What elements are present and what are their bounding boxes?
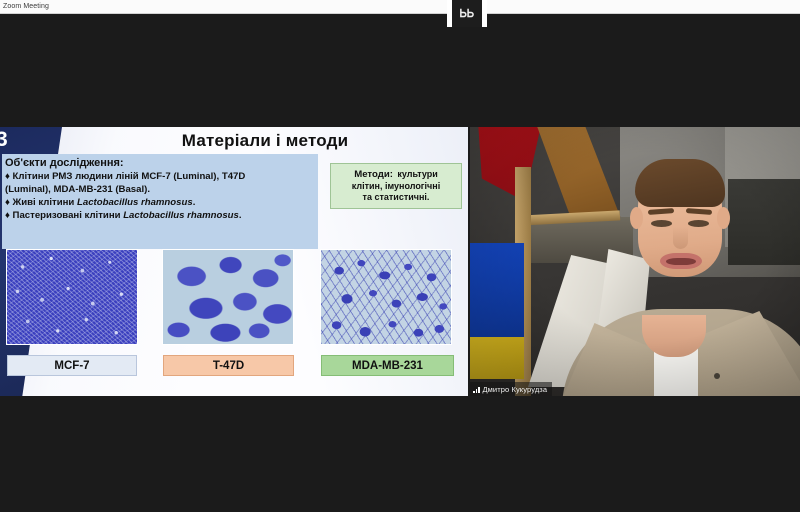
window-titlebar: Zoom Meeting [0, 0, 800, 14]
micrograph-mdamb231-image [321, 250, 451, 344]
micrograph-mcf7-image [7, 250, 137, 344]
micrograph-t47d [162, 249, 294, 345]
cell-line-label-mcf7: MCF-7 [7, 355, 137, 376]
shared-screen-slide[interactable]: 3 Матеріали і методи Об'єкти дослідження… [0, 127, 468, 396]
objects-heading: Об'єкти дослідження: [5, 156, 315, 170]
signal-strength-icon [473, 386, 480, 393]
methods-panel: Методи: культури клітин, імунологічні та… [330, 163, 462, 209]
cell-line-label-t47d: T-47D [163, 355, 294, 376]
meeting-stage: 3 Матеріали і методи Об'єкти дослідження… [0, 127, 800, 396]
window-title: Zoom Meeting [0, 3, 49, 10]
participant-video-tile[interactable]: Дмитро Кукурудза [470, 127, 800, 396]
participant-name-tag: Дмитро Кукурудза [470, 382, 552, 396]
recording-logo-box: ᏏᏏ [452, 0, 482, 27]
methods-text-1: культури [397, 169, 437, 179]
methods-text-2: клітин, імунологічні [335, 181, 457, 193]
objects-panel: Об'єкти дослідження: ♦ Клітини РМЗ людин… [2, 154, 318, 249]
zoom-meeting-window: Zoom Meeting ᏏᏏ 3 Матеріали і методи Об'… [0, 0, 800, 512]
methods-label: Методи: [354, 169, 393, 180]
recording-logo-icon: ᏏᏏ [460, 9, 474, 19]
slide-title: Матеріали і методи [62, 131, 468, 151]
micrograph-t47d-image [163, 250, 293, 344]
micrograph-mdamb231 [320, 249, 452, 345]
objects-bullet-3: ♦ Живі клітини Lactobacillus rhamnosus. [5, 196, 315, 209]
micrograph-mcf7 [6, 249, 138, 345]
objects-bullet-4: ♦ Пастеризовані клітини Lactobacillus rh… [5, 209, 315, 222]
recording-badge: ᏏᏏ [447, 0, 487, 27]
participant-name: Дмитро Кукурудза [483, 385, 548, 394]
objects-bullet-2: (Luminal), MDA-MB-231 (Basal). [5, 183, 315, 196]
methods-line-1: Методи: культури [335, 167, 457, 181]
cell-line-label-mdamb231: MDA-MB-231 [321, 355, 454, 376]
methods-text-3: та статистичні. [335, 192, 457, 204]
video-vignette [470, 127, 800, 396]
slide-number: 3 [0, 128, 8, 152]
objects-bullet-1: ♦ Клітини РМЗ людини ліній MCF-7 (Lumina… [5, 170, 315, 183]
